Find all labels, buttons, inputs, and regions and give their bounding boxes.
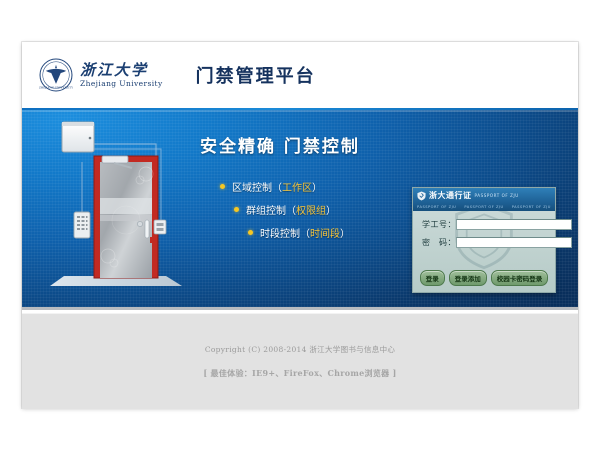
- strip-word: PASSPORT OF ZJU: [417, 205, 456, 209]
- brand-name-cn: 浙江大学: [80, 63, 163, 78]
- username-input[interactable]: [456, 219, 572, 230]
- login-panel-subtitle: PASSPORT OF ZJU: [475, 193, 519, 198]
- bullet-icon: [248, 230, 253, 235]
- banner-bottom-edge: [22, 307, 578, 310]
- bullet-icon: [234, 207, 239, 212]
- door-access-control-illustration: [48, 116, 196, 302]
- feature-highlight: 时间段: [310, 225, 340, 240]
- campus-card-login-button[interactable]: 校园卡密码登录: [491, 270, 549, 286]
- brand-block[interactable]: ZHEJIANG UNIVERSITY 浙江大学 Zhejiang Univer…: [39, 58, 163, 92]
- zju-seal-logo: ZHEJIANG UNIVERSITY: [39, 58, 73, 92]
- password-input[interactable]: [456, 237, 572, 248]
- feature-item-area-control: 区域控制（ 工作区 ）: [220, 179, 410, 194]
- shield-icon: [417, 191, 426, 201]
- svg-text:ZHEJIANG UNIVERSITY: ZHEJIANG UNIVERSITY: [39, 86, 73, 90]
- feature-highlight: 工作区: [282, 179, 312, 194]
- feature-item-group-control: 群组控制（ 权限组 ）: [234, 202, 410, 217]
- feature-tail: ）: [326, 202, 336, 217]
- strip-word: PASSPORT OF ZJU: [464, 205, 503, 209]
- feature-tail: ）: [340, 225, 350, 240]
- copyright-text: Copyright (C) 2008-2014 浙江大学图书与信息中心: [22, 344, 578, 355]
- login-add-button[interactable]: 登录添加: [449, 270, 487, 286]
- username-field-row: 学工号：: [422, 219, 546, 230]
- login-form: 学工号： 密 码：: [413, 211, 555, 248]
- hero-banner: 安全精确 门禁控制 区域控制（ 工作区 ） 群组控制（ 权限组 ） 时段控制（ …: [22, 110, 578, 310]
- slogan-block: 安全精确 门禁控制 区域控制（ 工作区 ） 群组控制（ 权限组 ） 时段控制（ …: [200, 132, 410, 240]
- password-field-row: 密 码：: [422, 237, 546, 248]
- feature-highlight: 权限组: [296, 202, 326, 217]
- bullet-icon: [220, 184, 225, 189]
- strip-word: PASSPORT OF ZJU: [512, 205, 551, 209]
- feature-label: 时段控制（: [260, 225, 310, 240]
- feature-tail: ）: [312, 179, 322, 194]
- feature-item-time-control: 时段控制（ 时间段 ）: [248, 225, 410, 240]
- browser-compatibility-note: [ 最佳体验：IE9+、FireFox、Chrome浏览器 ]: [22, 368, 578, 379]
- brand-text: 浙江大学 Zhejiang University: [80, 63, 163, 88]
- login-panel-title: 浙大通行证: [429, 190, 472, 201]
- passport-strip: PASSPORT OF ZJU PASSPORT OF ZJU PASSPORT…: [413, 203, 555, 211]
- feature-label: 区域控制（: [232, 179, 282, 194]
- username-label: 学工号：: [422, 219, 456, 230]
- login-button-group: 登录 登录添加 校园卡密码登录: [413, 270, 555, 286]
- brand-name-en: Zhejiang University: [80, 80, 163, 88]
- password-label: 密 码：: [422, 237, 456, 248]
- slogan-title: 安全精确 门禁控制: [200, 132, 410, 157]
- site-header: ZHEJIANG UNIVERSITY 浙江大学 Zhejiang Univer…: [22, 42, 578, 108]
- site-footer: Copyright (C) 2008-2014 浙江大学图书与信息中心 [ 最佳…: [22, 313, 578, 409]
- login-button[interactable]: 登录: [420, 270, 445, 286]
- banner-top-highlight: [22, 110, 578, 112]
- page-card: ZHEJIANG UNIVERSITY 浙江大学 Zhejiang Univer…: [22, 42, 578, 408]
- login-panel: 浙大通行证 PASSPORT OF ZJU PASSPORT OF ZJU PA…: [412, 187, 556, 293]
- feature-label: 群组控制（: [246, 202, 296, 217]
- page-title: 门禁管理平台: [196, 62, 316, 88]
- login-titlebar: 浙大通行证 PASSPORT OF ZJU: [413, 188, 555, 203]
